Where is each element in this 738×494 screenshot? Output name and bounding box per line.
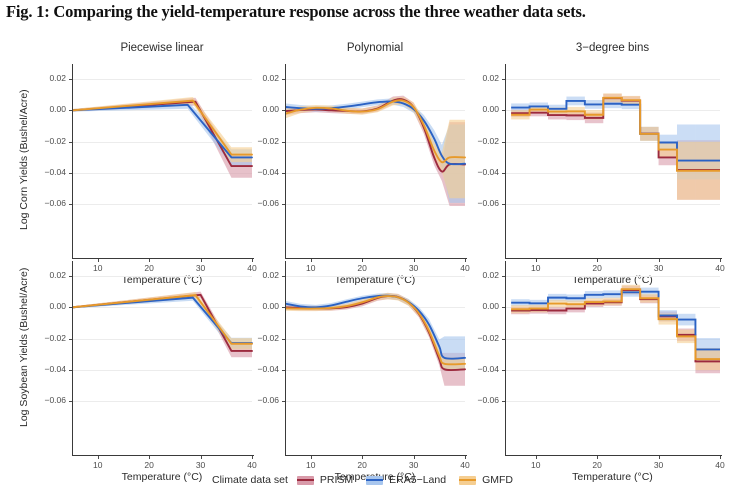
bin-step-ERA5−Land: [511, 292, 720, 350]
title-divider: [0, 28, 738, 29]
y-axis-title-soybean: Log Soybean Yields (Bushel/Acre): [18, 268, 30, 427]
panel-plot-soy-piecewise: [0, 0, 738, 494]
bin-band-ERA5−Land: [566, 294, 584, 302]
gridline: [72, 401, 252, 402]
bin-band-GMFD: [548, 108, 566, 116]
gridline: [72, 142, 252, 143]
x-tick: [536, 456, 537, 459]
series-line-ERA5−Land: [72, 298, 252, 343]
gridline: [72, 307, 252, 308]
bin-step-GMFD: [511, 98, 720, 171]
x-tick: [98, 259, 99, 262]
gridline: [285, 79, 465, 80]
x-tick: [311, 456, 312, 459]
x-axis-line: [505, 258, 722, 259]
bin-band-PRISM: [566, 111, 584, 120]
x-tick: [659, 259, 660, 262]
bin-band-PRISM: [548, 111, 566, 120]
bin-band-GMFD: [548, 300, 566, 308]
x-tick: [597, 456, 598, 459]
bin-band-GMFD: [622, 285, 640, 294]
bin-band-ERA5−Land: [622, 288, 640, 297]
confidence-band-ERA5−Land: [285, 293, 465, 370]
legend-swatch-prism: [297, 476, 314, 485]
bin-band-PRISM: [640, 127, 658, 140]
bin-band-PRISM: [695, 140, 720, 200]
series-line-GMFD: [72, 101, 252, 155]
panel-title-0: Piecewise linear: [72, 42, 252, 54]
x-tick: [252, 456, 253, 459]
legend-swatch-gmfd: [459, 476, 476, 485]
bin-band-GMFD: [677, 142, 695, 200]
legend: Climate data set PRISM ERA5−Land GMFD: [0, 468, 738, 492]
gridline: [72, 79, 252, 80]
bin-band-GMFD: [640, 294, 658, 303]
gridline: [72, 370, 252, 371]
bin-band-ERA5−Land: [585, 291, 603, 299]
y-axis-line: [285, 261, 286, 455]
y-tick-label: 0.02: [463, 73, 499, 83]
x-tick: [465, 259, 466, 262]
bin-band-PRISM: [585, 113, 603, 124]
x-tick: [201, 456, 202, 459]
gridline: [72, 110, 252, 111]
x-tick: [659, 456, 660, 459]
y-tick-label: 0.02: [463, 270, 499, 280]
bin-band-GMFD: [659, 142, 677, 158]
gridline: [72, 204, 252, 205]
y-tick-label: −0.04: [243, 364, 279, 374]
gridline: [505, 110, 720, 111]
series-line-ERA5−Land: [285, 296, 465, 359]
y-tick-label: −0.04: [30, 167, 66, 177]
gridline: [285, 204, 465, 205]
y-tick-label: −0.02: [463, 136, 499, 146]
y-tick-label: 0.00: [463, 301, 499, 311]
x-tick: [465, 456, 466, 459]
x-tick: [362, 456, 363, 459]
bin-band-PRISM: [603, 94, 621, 103]
bin-band-ERA5−Land: [659, 310, 677, 321]
x-tick-label: 20: [347, 263, 377, 273]
legend-title: Climate data set: [212, 474, 288, 486]
bin-band-PRISM: [640, 295, 658, 303]
gridline: [505, 401, 720, 402]
figure-title: Fig. 1: Comparing the yield-temperature …: [6, 2, 732, 22]
bin-band-PRISM: [659, 311, 677, 321]
gridline: [285, 370, 465, 371]
x-axis-line: [505, 455, 722, 456]
bin-band-ERA5−Land: [548, 294, 566, 302]
series-line-PRISM: [72, 295, 252, 351]
x-tick-label: 10: [296, 263, 326, 273]
legend-item-prism[interactable]: PRISM: [297, 474, 353, 486]
y-tick-label: −0.06: [463, 198, 499, 208]
gridline: [285, 401, 465, 402]
x-tick-label: 10: [521, 263, 551, 273]
y-axis-line: [505, 64, 506, 258]
bin-band-GMFD: [622, 96, 640, 104]
bin-band-PRISM: [622, 96, 640, 105]
gridline: [72, 173, 252, 174]
x-axis-line: [72, 455, 254, 456]
y-axis-line: [72, 64, 73, 258]
panel-plot-corn-polynomial: [0, 0, 738, 494]
x-tick: [414, 456, 415, 459]
bin-band-GMFD: [677, 330, 695, 343]
bin-band-ERA5−Land: [677, 314, 695, 326]
legend-label-era5land: ERA5−Land: [389, 474, 446, 486]
gridline: [505, 370, 720, 371]
bin-band-ERA5−Land: [640, 127, 658, 141]
bin-band-PRISM: [585, 300, 603, 307]
confidence-band-GMFD: [285, 293, 465, 370]
x-tick: [720, 456, 721, 459]
y-tick-label: 0.02: [243, 73, 279, 83]
bin-band-GMFD: [530, 305, 548, 313]
gridline: [505, 276, 720, 277]
panel-plot-corn-bins: [0, 0, 738, 494]
bin-band-PRISM: [677, 140, 695, 200]
series-line-GMFD: [285, 296, 465, 364]
panel-title-2: 3−degree bins: [505, 42, 720, 54]
y-tick-label: −0.06: [30, 198, 66, 208]
bin-band-ERA5−Land: [622, 100, 640, 109]
x-tick-label: 10: [83, 263, 113, 273]
legend-label-prism: PRISM: [320, 474, 353, 486]
bin-band-ERA5−Land: [548, 105, 566, 113]
bin-band-GMFD: [695, 348, 720, 370]
x-tick: [720, 259, 721, 262]
y-tick-label: −0.06: [243, 198, 279, 208]
y-tick-label: 0.00: [30, 104, 66, 114]
confidence-band-ERA5−Land: [72, 294, 252, 348]
x-tick-label: 40: [705, 263, 735, 273]
bin-band-ERA5−Land: [640, 288, 658, 296]
gridline: [505, 339, 720, 340]
bin-band-ERA5−Land: [530, 103, 548, 111]
legend-item-era5land[interactable]: ERA5−Land: [366, 474, 446, 486]
bin-band-GMFD: [695, 142, 720, 200]
x-tick: [149, 259, 150, 262]
y-axis-line: [285, 64, 286, 258]
gridline: [505, 204, 720, 205]
y-tick-label: 0.02: [243, 270, 279, 280]
confidence-band-ERA5−Land: [285, 98, 465, 202]
y-tick-label: −0.06: [463, 395, 499, 405]
x-tick-label: 30: [399, 263, 429, 273]
x-axis-line: [285, 258, 467, 259]
legend-swatch-era5land: [366, 476, 383, 485]
x-tick: [362, 259, 363, 262]
x-tick-label: 30: [644, 263, 674, 273]
gridline: [505, 142, 720, 143]
bin-band-GMFD: [659, 314, 677, 325]
gridline: [285, 339, 465, 340]
gridline: [72, 339, 252, 340]
bin-band-ERA5−Land: [530, 300, 548, 307]
series-line-ERA5−Land: [72, 105, 252, 158]
gridline: [285, 110, 465, 111]
bin-band-PRISM: [566, 305, 584, 313]
series-line-PRISM: [72, 102, 252, 166]
confidence-band-PRISM: [72, 292, 252, 358]
y-tick-label: −0.02: [30, 136, 66, 146]
x-axis-line: [285, 455, 467, 456]
gridline: [505, 307, 720, 308]
bin-band-ERA5−Land: [603, 99, 621, 108]
bin-band-GMFD: [585, 110, 603, 119]
x-tick: [98, 456, 99, 459]
bin-band-ERA5−Land: [511, 299, 529, 306]
y-tick-label: −0.02: [30, 333, 66, 343]
x-tick-label: 20: [134, 263, 164, 273]
y-tick-label: 0.00: [30, 301, 66, 311]
legend-label-gmfd: GMFD: [482, 474, 513, 486]
y-tick-label: −0.06: [243, 395, 279, 405]
bin-band-ERA5−Land: [566, 97, 584, 106]
y-tick-label: −0.06: [30, 395, 66, 405]
bin-step-PRISM: [511, 290, 720, 361]
panel-title-1: Polynomial: [285, 42, 465, 54]
series-line-GMFD: [72, 295, 252, 344]
y-axis-title-corn: Log Corn Yields (Bushel/Acre): [18, 89, 30, 230]
y-axis-line: [72, 261, 73, 455]
y-tick-label: 0.00: [243, 301, 279, 311]
bin-band-GMFD: [585, 298, 603, 306]
y-tick-label: 0.00: [463, 104, 499, 114]
y-tick-label: 0.00: [243, 104, 279, 114]
y-tick-label: −0.04: [243, 167, 279, 177]
bin-band-ERA5−Land: [603, 290, 621, 298]
y-tick-label: 0.02: [30, 270, 66, 280]
y-tick-label: 0.02: [30, 73, 66, 83]
gridline: [505, 79, 720, 80]
bin-band-PRISM: [659, 150, 677, 166]
x-tick: [536, 259, 537, 262]
x-tick-label: 30: [186, 263, 216, 273]
gridline: [285, 142, 465, 143]
x-tick: [252, 259, 253, 262]
y-tick-label: −0.04: [30, 364, 66, 374]
y-tick-label: −0.02: [243, 333, 279, 343]
x-tick: [311, 259, 312, 262]
bin-band-ERA5−Land: [585, 100, 603, 109]
y-axis-line: [505, 261, 506, 455]
bin-step-GMFD: [511, 289, 720, 359]
bin-band-ERA5−Land: [695, 338, 720, 361]
bin-band-GMFD: [603, 93, 621, 102]
bin-band-PRISM: [622, 286, 640, 295]
x-tick: [201, 259, 202, 262]
x-tick: [149, 456, 150, 459]
y-tick-label: −0.02: [243, 136, 279, 146]
x-tick: [597, 259, 598, 262]
x-tick-label: 20: [582, 263, 612, 273]
gridline: [505, 173, 720, 174]
panel-plot-soy-polynomial: [0, 0, 738, 494]
confidence-band-GMFD: [72, 292, 252, 349]
gridline: [72, 276, 252, 277]
bin-band-ERA5−Land: [677, 124, 695, 179]
gridline: [285, 276, 465, 277]
y-tick-label: −0.04: [463, 364, 499, 374]
confidence-band-GMFD: [72, 97, 252, 162]
bin-band-GMFD: [640, 127, 658, 141]
confidence-band-PRISM: [285, 96, 465, 206]
confidence-band-GMFD: [285, 97, 465, 198]
bin-band-PRISM: [603, 299, 621, 306]
y-tick-label: −0.04: [463, 167, 499, 177]
bin-step-PRISM: [511, 98, 720, 170]
bin-band-GMFD: [511, 110, 529, 119]
bin-band-ERA5−Land: [695, 124, 720, 179]
gridline: [285, 173, 465, 174]
gridline: [285, 307, 465, 308]
panel-plot-soy-bins: [0, 0, 738, 494]
x-tick: [414, 259, 415, 262]
bin-band-GMFD: [603, 298, 621, 306]
panel-plot-corn-piecewise: [0, 0, 738, 494]
y-tick-label: −0.02: [463, 333, 499, 343]
legend-item-gmfd[interactable]: GMFD: [459, 474, 513, 486]
x-axis-line: [72, 258, 254, 259]
